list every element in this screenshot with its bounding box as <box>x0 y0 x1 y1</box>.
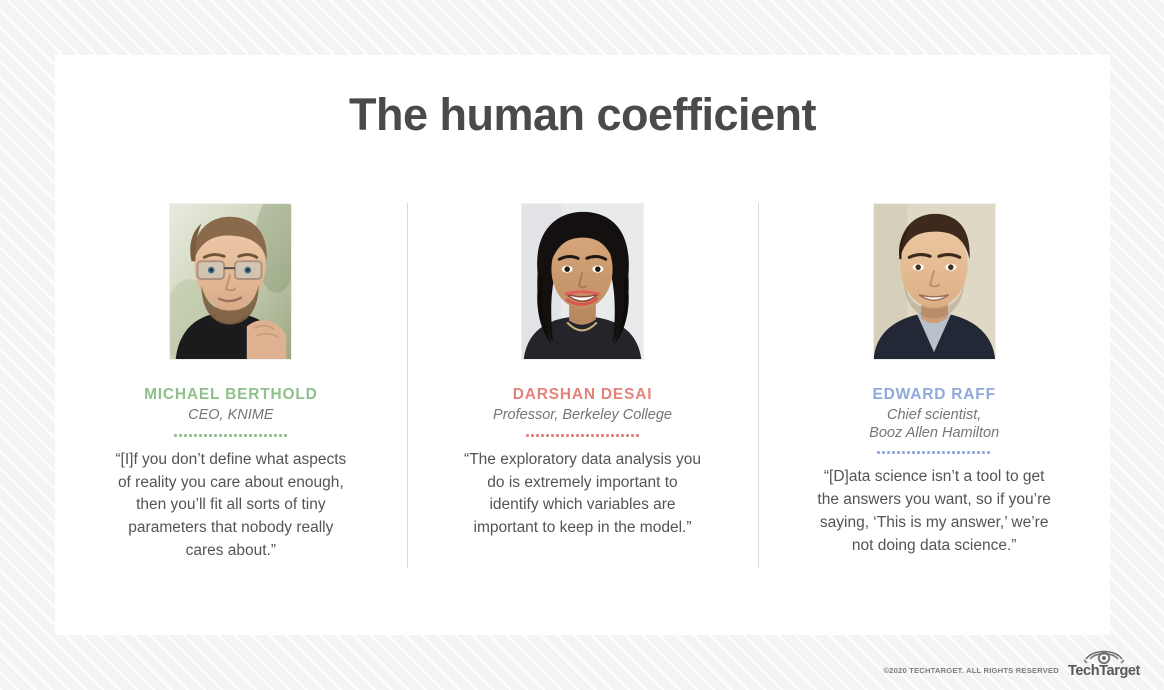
techtarget-wordmark: TechTarget <box>1068 664 1140 679</box>
dot-divider <box>525 434 641 437</box>
darshan-desai-portrait <box>521 203 644 360</box>
infographic-card: The human coefficient <box>55 55 1110 635</box>
person-title: CEO, KNIME <box>188 407 273 425</box>
page-title: The human coefficient <box>55 55 1110 141</box>
person-name: DARSHAN DESAI <box>513 386 653 403</box>
person-quote: “[D]ata science isn’t a tool to get the … <box>814 466 1054 557</box>
edward-raff-portrait <box>873 203 996 360</box>
person-card-0: MICHAEL BERTHOLD CEO, KNIME “[I]f you do… <box>55 203 407 563</box>
person-name: MICHAEL BERTHOLD <box>144 386 318 403</box>
person-quote: “[I]f you don’t define what aspects of r… <box>111 449 351 563</box>
dot-divider <box>173 434 289 437</box>
person-title: Chief scientist, Booz Allen Hamilton <box>869 407 999 442</box>
person-card-1: DARSHAN DESAI Professor, Berkeley Colleg… <box>407 203 759 540</box>
person-card-2: EDWARD RAFF Chief scientist, Booz Allen … <box>758 203 1110 558</box>
quote-columns: MICHAEL BERTHOLD CEO, KNIME “[I]f you do… <box>55 203 1110 563</box>
person-name: EDWARD RAFF <box>873 386 996 403</box>
eye-icon <box>1083 647 1125 664</box>
footer: ©2020 TECHTARGET. ALL RIGHTS RESERVED Te… <box>883 647 1140 679</box>
techtarget-logo: TechTarget <box>1068 647 1140 679</box>
michael-berthold-portrait <box>169 203 292 360</box>
person-title: Professor, Berkeley College <box>493 407 672 425</box>
dot-divider <box>876 451 992 454</box>
copyright-text: ©2020 TECHTARGET. ALL RIGHTS RESERVED <box>883 666 1059 678</box>
person-quote: “The exploratory data analysis you do is… <box>463 449 703 540</box>
